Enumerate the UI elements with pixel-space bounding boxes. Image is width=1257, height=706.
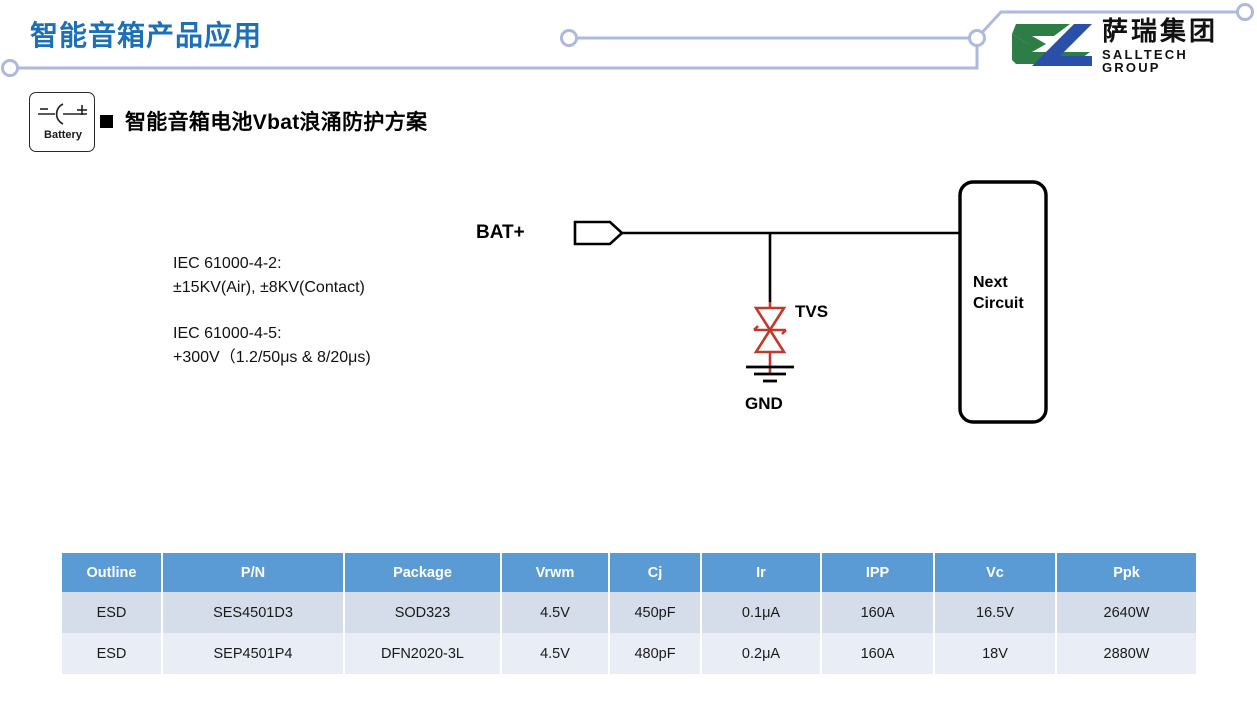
cell-cj: 450pF [609,592,701,633]
bidirectional-tvs-diode-icon [754,302,786,374]
cell-ppk: 2640W [1056,592,1196,633]
cell-ir: 0.1μA [701,592,821,633]
column-header-vrwm: Vrwm [501,553,609,592]
page-title: 智能音箱产品应用 [30,14,262,54]
cell-outline: ESD [62,633,162,674]
bat-plus-label: BAT+ [476,222,525,244]
logo-english-name: SALLTECH GROUP [1102,48,1244,74]
next-circuit-label-line1: Next [973,272,1024,293]
cell-ir: 0.2μA [701,633,821,674]
cell-package: DFN2020-3L [344,633,501,674]
table-header-row: Outline P/N Package Vrwm Cj Ir IPP Vc Pp… [62,553,1196,592]
cell-package: SOD323 [344,592,501,633]
cell-cj: 480pF [609,633,701,674]
cell-ipp: 160A [821,592,934,633]
surge-standard-value: +300V（1.2/50μs & 8/20μs) [173,346,371,370]
table-row: ESD SEP4501P4 DFN2020-3L 4.5V 480pF 0.2μ… [62,633,1196,674]
esd-standard-title: IEC 61000-4-2: [173,252,371,276]
next-circuit-label: Next Circuit [973,272,1024,314]
column-header-pn: P/N [162,553,344,592]
tvs-label: TVS [795,302,828,322]
circuit-node-circle [562,31,577,46]
column-header-ipp: IPP [821,553,934,592]
table-row: ESD SES4501D3 SOD323 4.5V 450pF 0.1μA 16… [62,592,1196,633]
battery-badge: Battery [29,92,95,152]
cell-vc: 18V [934,633,1056,674]
company-logo: 萨瑞集团 SALLTECH GROUP [1012,16,1244,76]
battery-badge-label: Battery [30,129,96,141]
logo-chinese-name: 萨瑞集团 [1102,18,1244,44]
section-heading-label: 智能音箱电池Vbat浪涌防护方案 [125,106,427,136]
battery-cell-icon [30,99,96,129]
cell-ipp: 160A [821,633,934,674]
square-bullet-icon [100,115,113,128]
salltech-logo-icon [1012,20,1096,72]
parameter-table: Outline P/N Package Vrwm Cj Ir IPP Vc Pp… [62,553,1196,674]
next-circuit-label-line2: Circuit [973,293,1024,314]
gnd-label: GND [745,394,783,414]
surge-standard-title: IEC 61000-4-5: [173,322,371,346]
cell-ppk: 2880W [1056,633,1196,674]
esd-standard-value: ±15KV(Air), ±8KV(Contact) [173,276,371,300]
column-header-outline: Outline [62,553,162,592]
section-heading: 智能音箱电池Vbat浪涌防护方案 [100,106,427,136]
cell-vc: 16.5V [934,592,1056,633]
spec-text-block: IEC 61000-4-2: ±15KV(Air), ±8KV(Contact)… [173,252,371,370]
cell-vrwm: 4.5V [501,633,609,674]
column-header-package: Package [344,553,501,592]
column-header-cj: Cj [609,553,701,592]
flag-connector-icon [575,222,622,244]
cell-vrwm: 4.5V [501,592,609,633]
circuit-node-circle [970,31,985,46]
cell-pn: SES4501D3 [162,592,344,633]
cell-outline: ESD [62,592,162,633]
column-header-ppk: Ppk [1056,553,1196,592]
column-header-ir: Ir [701,553,821,592]
column-header-vc: Vc [934,553,1056,592]
cell-pn: SEP4501P4 [162,633,344,674]
circuit-node-circle [3,61,18,76]
